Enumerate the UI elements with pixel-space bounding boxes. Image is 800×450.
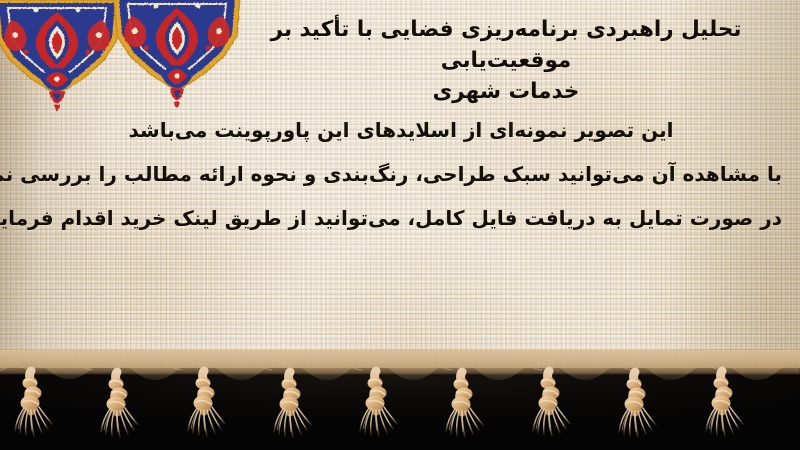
presentation-slide: تحلیل راهبردی برنامه‌ریزی فضایی با تأکید…	[0, 0, 800, 450]
body-line-1: این تصویر نمونه‌ای از اسلایدهای این پاور…	[20, 108, 782, 152]
carpet-tassel-fringe	[0, 350, 800, 450]
tassel	[101, 372, 138, 437]
tassel	[15, 371, 52, 436]
slide-title: تحلیل راهبردی برنامه‌ریزی فضایی با تأکید…	[225, 14, 787, 107]
tassel	[706, 371, 743, 436]
tassel	[533, 371, 570, 436]
tassel	[188, 371, 225, 436]
persian-medallion-ornament-secondary	[112, 0, 242, 115]
ornament-group	[0, 0, 250, 115]
tassel	[619, 372, 656, 437]
tassel	[446, 372, 483, 437]
tassel	[360, 371, 397, 436]
body-line-3: در صورت تمایل به دریافت فایل کامل، می‌تو…	[20, 196, 782, 240]
slide-body: این تصویر نمونه‌ای از اسلایدهای این پاور…	[20, 108, 782, 240]
tassel	[274, 372, 311, 437]
persian-medallion-ornament	[0, 0, 122, 115]
slide-title-line-1: تحلیل راهبردی برنامه‌ریزی فضایی با تأکید…	[225, 14, 787, 76]
body-line-2: با مشاهده آن می‌توانید سبک طراحی، رنگ‌بن…	[20, 152, 782, 196]
slide-title-line-2: خدمات شهری	[225, 76, 787, 107]
